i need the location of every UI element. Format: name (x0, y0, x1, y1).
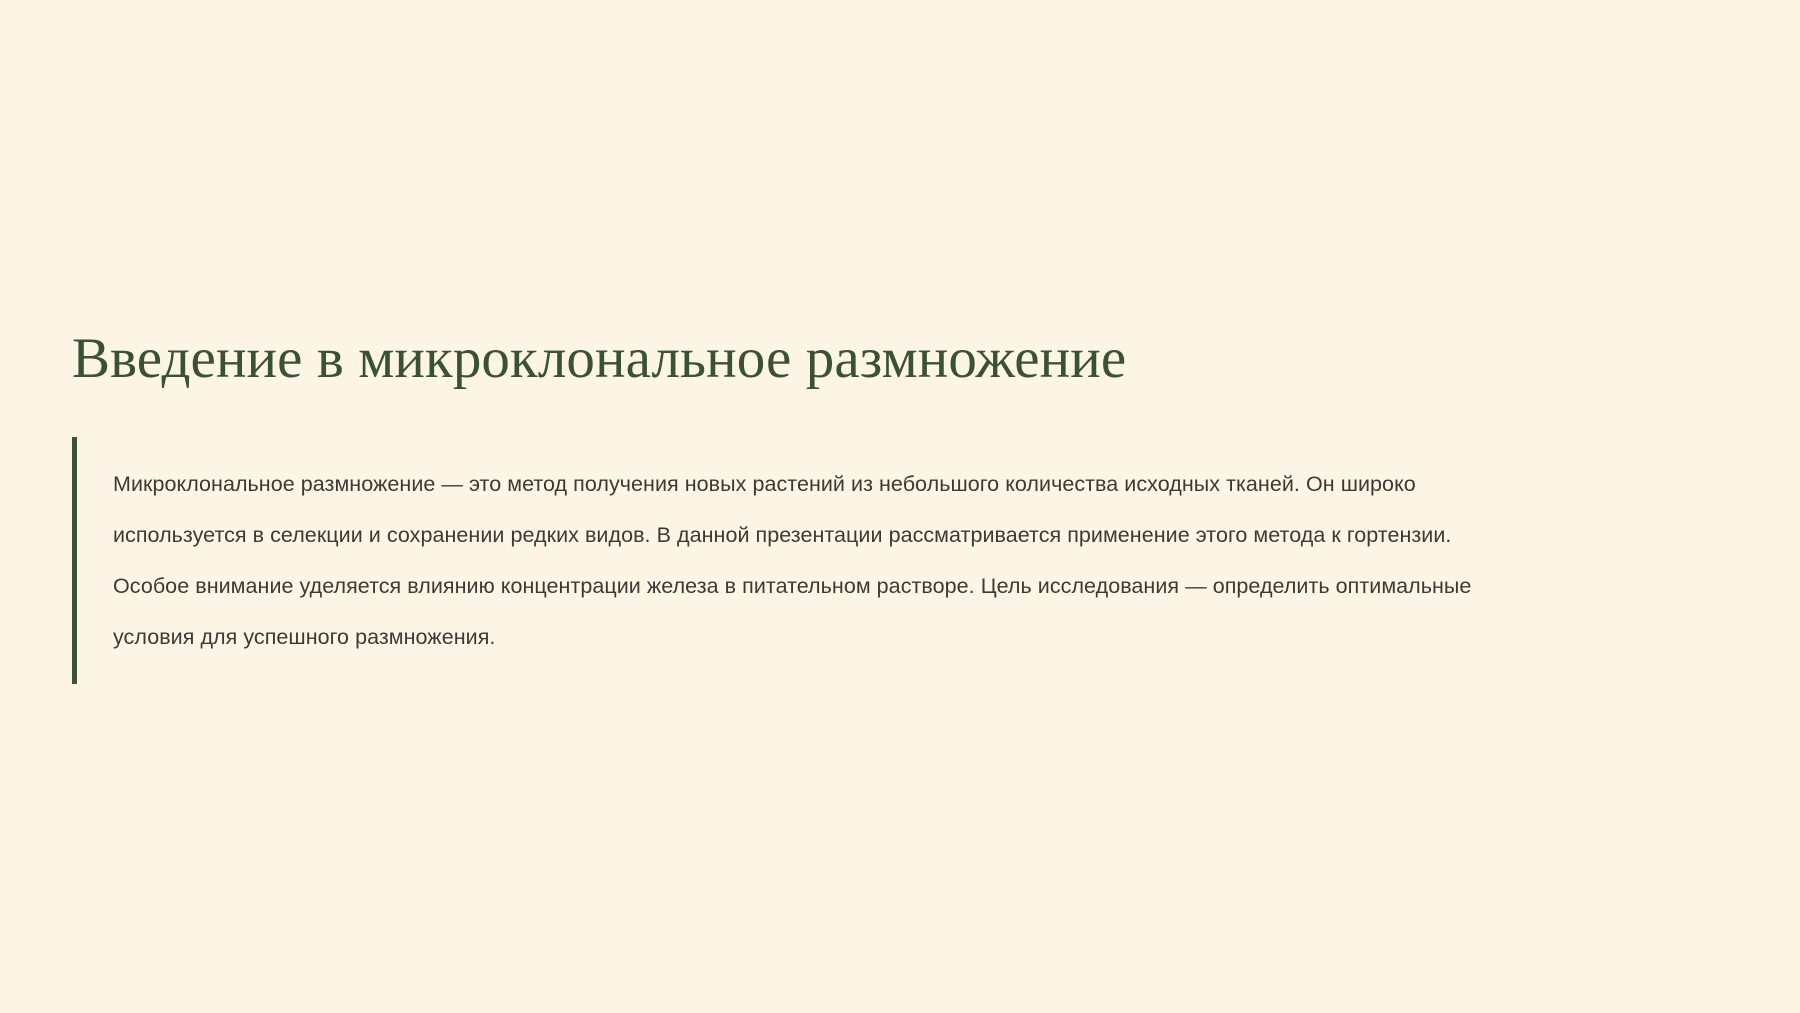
page-title: Введение в микроклональное размножение (72, 326, 1572, 392)
presentation-slide: Введение в микроклональное размножение М… (0, 0, 1800, 1013)
body-callout: Микроклональное размножение — это метод … (72, 437, 1492, 684)
body-paragraph: Микроклональное размножение — это метод … (77, 459, 1492, 663)
